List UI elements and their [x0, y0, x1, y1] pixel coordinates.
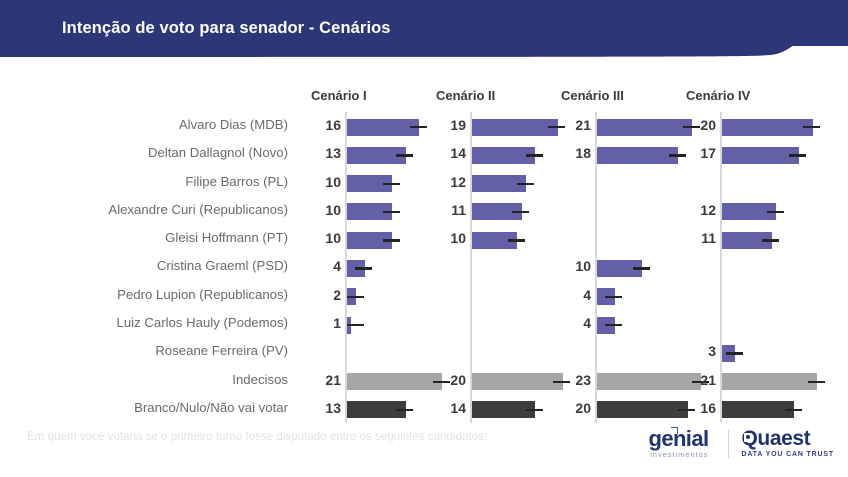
bar-cell: 1	[345, 312, 470, 340]
error-bar	[762, 239, 779, 241]
scenario-header-3: Cenário III	[561, 88, 624, 103]
error-bar	[347, 324, 364, 326]
bar-cell: 4	[595, 312, 720, 340]
candidate-label: Filipe Barros (PL)	[28, 174, 288, 189]
error-bar	[355, 267, 372, 269]
bar-cell: 4	[595, 284, 720, 312]
table-row: Branco/Nulo/Não vai votar13142016	[0, 397, 848, 425]
bar-value-label: 11	[701, 230, 716, 246]
error-bar	[396, 409, 413, 411]
logo-group: genial investimentos Quaest DATA YOU CAN…	[649, 428, 835, 459]
bar-cell	[470, 340, 595, 368]
error-bar	[383, 183, 400, 185]
candidate-label: Luiz Carlos Hauly (Podemos)	[28, 315, 288, 330]
error-bar	[789, 154, 806, 156]
scenario-header-4: Cenário IV	[686, 88, 750, 103]
bar	[722, 147, 799, 164]
bar-cell: 16	[720, 397, 845, 425]
error-bar	[785, 409, 802, 411]
bar-value-label: 23	[575, 372, 591, 388]
axis-line	[470, 282, 472, 310]
error-bar	[383, 211, 400, 213]
candidate-label: Gleisi Hoffmann (PT)	[28, 230, 288, 245]
bar-value-label: 13	[325, 145, 341, 161]
bar-cell	[470, 312, 595, 340]
error-bar	[808, 381, 825, 383]
quaest-logo-subtext: DATA YOU CAN TRUST	[741, 450, 834, 459]
bar-cell: 4	[345, 255, 470, 283]
chart-rows: Alvaro Dias (MDB)16192120Deltan Dallagno…	[0, 114, 848, 425]
error-bar	[633, 267, 650, 269]
bar-value-label: 14	[450, 400, 466, 416]
genial-logo-subtext: investimentos	[649, 450, 709, 459]
error-bar	[383, 239, 400, 241]
bar-value-label: 14	[450, 145, 466, 161]
table-row: Cristina Graeml (PSD)410	[0, 255, 848, 283]
axis-line	[595, 169, 597, 197]
error-bar	[347, 296, 364, 298]
scenario-header-2: Cenário II	[436, 88, 495, 103]
table-row: Gleisi Hoffmann (PT)101011	[0, 227, 848, 255]
bar-value-label: 4	[333, 258, 341, 274]
bar-cell: 17	[720, 142, 845, 170]
bar-cell: 12	[470, 171, 595, 199]
error-bar	[803, 126, 820, 128]
bar-cell	[595, 340, 720, 368]
bar-cell: 20	[720, 114, 845, 142]
chart-area: Cenário ICenário IICenário IIICenário IV…	[0, 62, 848, 414]
axis-line	[720, 169, 722, 197]
bar-cell: 10	[595, 255, 720, 283]
quaest-logo-rest: uaest	[757, 427, 810, 450]
bar-cell: 11	[470, 199, 595, 227]
table-row: Roseane Ferreira (PV)3	[0, 340, 848, 368]
table-row: Alvaro Dias (MDB)16192120	[0, 114, 848, 142]
quaest-person-icon	[744, 433, 752, 442]
bar-value-label: 4	[583, 315, 591, 331]
bar-value-label: 10	[575, 258, 591, 274]
bar-cell: 21	[720, 369, 845, 397]
bar-value-label: 19	[450, 117, 466, 133]
bar	[597, 147, 679, 164]
bar-value-label: 18	[575, 145, 591, 161]
table-row: Pedro Lupion (Republicanos)24	[0, 284, 848, 312]
error-bar	[512, 211, 529, 213]
error-bar	[605, 296, 622, 298]
candidate-label: Alexandre Curi (Republicanos)	[28, 202, 288, 217]
candidate-label: Indecisos	[28, 372, 288, 387]
error-bar	[396, 154, 413, 156]
candidate-label: Cristina Graeml (PSD)	[28, 258, 288, 273]
bar-value-label: 20	[450, 372, 466, 388]
axis-line	[595, 225, 597, 253]
bar	[597, 119, 693, 136]
bar-cell	[720, 171, 845, 199]
candidate-label: Branco/Nulo/Não vai votar	[28, 400, 288, 415]
axis-line	[470, 310, 472, 338]
bar	[472, 119, 558, 136]
table-row: Filipe Barros (PL)1012	[0, 171, 848, 199]
question-note: Em quem você votaria se o primeiro turno…	[27, 430, 487, 443]
bar-value-label: 10	[325, 202, 341, 218]
bar-cell	[720, 255, 845, 283]
bar-cell	[720, 284, 845, 312]
header-banner: Intenção de voto para senador - Cenários	[0, 0, 848, 62]
error-bar	[767, 211, 784, 213]
scenario-header-1: Cenário I	[311, 88, 367, 103]
quaest-logo-text: Quaest	[741, 428, 834, 450]
table-row: Alexandre Curi (Republicanos)101112	[0, 199, 848, 227]
table-row: Indecisos21202321	[0, 369, 848, 397]
poll-chart-page: Intenção de voto para senador - Cenários…	[0, 0, 848, 477]
bar-value-label: 10	[325, 174, 341, 190]
bar-value-label: 3	[708, 343, 716, 359]
candidate-label: Pedro Lupion (Republicanos)	[28, 287, 288, 302]
bar-cell	[595, 171, 720, 199]
error-bar	[678, 409, 695, 411]
bar	[722, 373, 818, 390]
bar-cell: 10	[470, 227, 595, 255]
bar-value-label: 12	[700, 202, 716, 218]
bar-value-label: 17	[700, 145, 716, 161]
bar-value-label: 16	[700, 400, 716, 416]
axis-line	[345, 338, 347, 366]
bar	[597, 373, 702, 390]
genial-logo: genial investimentos	[649, 428, 719, 459]
bar-cell: 11	[720, 227, 845, 255]
bar-cell	[345, 340, 470, 368]
axis-line	[720, 253, 722, 281]
error-bar	[508, 239, 525, 241]
bar-cell: 3	[720, 340, 845, 368]
bar-value-label: 11	[451, 202, 466, 218]
bar-value-label: 21	[575, 117, 591, 133]
table-row: Luiz Carlos Hauly (Podemos)14	[0, 312, 848, 340]
axis-line	[720, 282, 722, 310]
bar-cell	[470, 284, 595, 312]
bar-value-label: 21	[700, 372, 716, 388]
bar-value-label: 10	[325, 230, 341, 246]
candidate-label: Alvaro Dias (MDB)	[28, 117, 288, 132]
error-bar	[526, 154, 543, 156]
bar-value-label: 20	[575, 400, 591, 416]
bar-value-label: 20	[700, 117, 716, 133]
bar-cell: 2	[345, 284, 470, 312]
error-bar	[548, 126, 565, 128]
genial-logo-text: genial	[649, 428, 709, 450]
error-bar	[410, 126, 427, 128]
axis-line	[470, 338, 472, 366]
axis-line	[595, 197, 597, 225]
page-title: Intenção de voto para senador - Cenários	[62, 19, 391, 38]
bar	[722, 401, 795, 418]
error-bar	[517, 183, 534, 185]
axis-line	[720, 310, 722, 338]
genial-check-icon	[671, 427, 678, 434]
bar-value-label: 21	[325, 372, 341, 388]
bar-value-label: 16	[325, 117, 341, 133]
bar-value-label: 13	[325, 400, 341, 416]
bar-value-label: 12	[450, 174, 466, 190]
bar-value-label: 10	[450, 230, 466, 246]
logo-divider	[728, 430, 729, 458]
error-bar	[669, 154, 686, 156]
axis-line	[470, 253, 472, 281]
bar-value-label: 1	[333, 315, 341, 331]
bar-value-label: 4	[583, 287, 591, 303]
quaest-logo: Quaest DATA YOU CAN TRUST	[739, 428, 834, 459]
error-bar	[553, 381, 570, 383]
bar	[347, 119, 420, 136]
scenario-header-row: Cenário ICenário IICenário IIICenário IV	[0, 88, 848, 108]
bar	[597, 401, 688, 418]
candidate-label: Roseane Ferreira (PV)	[28, 343, 288, 358]
table-row: Deltan Dallagnol (Novo)13141817	[0, 142, 848, 170]
bar-cell: 12	[720, 199, 845, 227]
error-bar	[526, 409, 543, 411]
bar	[472, 373, 563, 390]
candidate-label: Deltan Dallagnol (Novo)	[28, 145, 288, 160]
axis-line	[595, 338, 597, 366]
error-bar	[726, 352, 743, 354]
bar-cell	[720, 312, 845, 340]
error-bar	[683, 126, 700, 128]
error-bar	[433, 381, 450, 383]
bar-value-label: 2	[333, 287, 341, 303]
error-bar	[605, 324, 622, 326]
bar	[347, 373, 443, 390]
bar	[722, 119, 813, 136]
